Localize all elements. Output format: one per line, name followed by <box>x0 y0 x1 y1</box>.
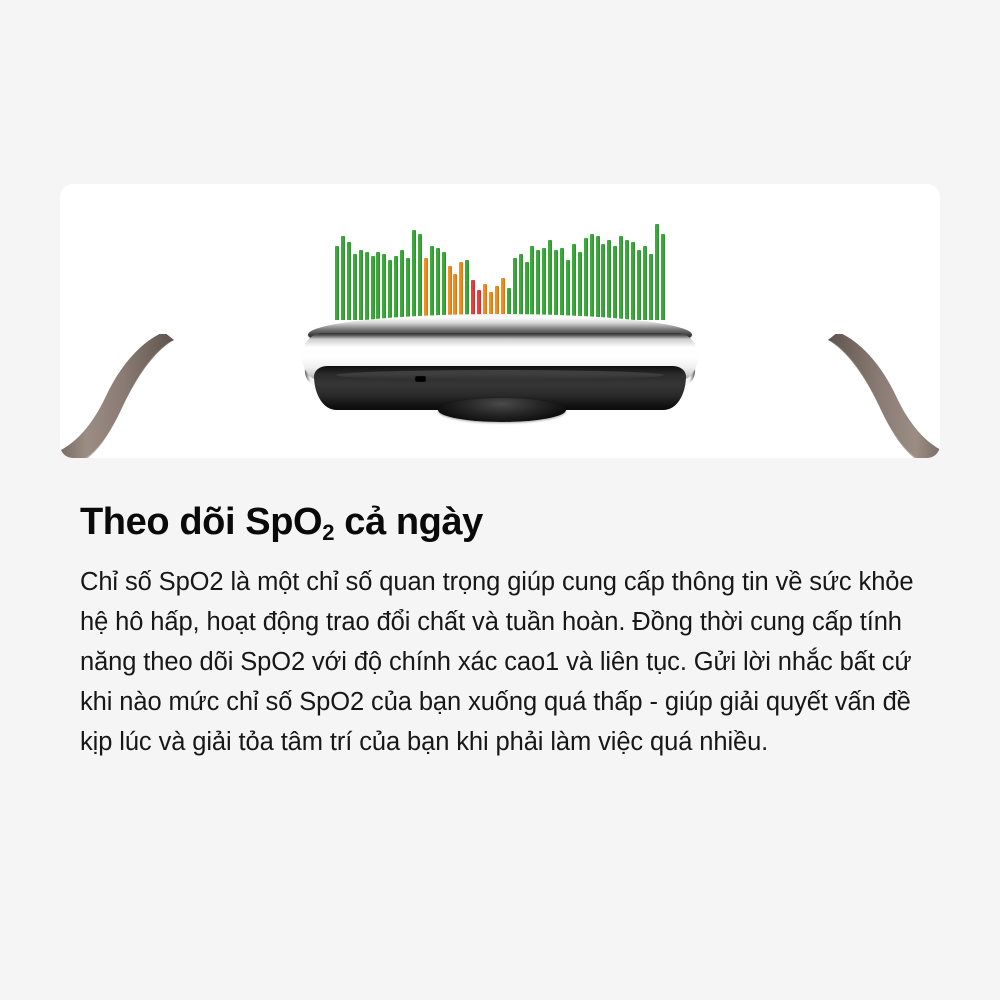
chart-bar <box>607 240 611 320</box>
chart-bar <box>619 236 623 320</box>
chart-bar <box>590 234 594 320</box>
chart-bar <box>530 246 534 320</box>
watch-case <box>300 314 700 424</box>
chart-bar <box>400 250 404 320</box>
chart-bar <box>453 274 457 320</box>
chart-bar <box>382 254 386 320</box>
chart-bar <box>465 260 469 320</box>
feature-copy-block: Theo dõi SpO2 cả ngày Chỉ số SpO2 là một… <box>80 500 940 762</box>
chart-bar <box>631 242 635 320</box>
chart-bar <box>412 230 416 320</box>
chart-bar <box>418 234 422 320</box>
chart-bar <box>542 248 546 320</box>
chart-bar <box>625 240 629 320</box>
chart-bar <box>513 258 517 320</box>
chart-bar <box>560 248 564 320</box>
chart-bar <box>661 234 665 320</box>
chart-bar <box>371 256 375 320</box>
chart-bar <box>495 286 499 320</box>
chart-bar <box>489 292 493 320</box>
chart-bar <box>406 258 410 320</box>
chart-bar <box>335 246 339 320</box>
page-title-subscript: 2 <box>322 520 334 545</box>
chart-bar <box>525 262 529 320</box>
watch-case-midband <box>302 333 698 381</box>
chart-bar <box>359 250 363 320</box>
chart-bar <box>572 244 576 320</box>
page-title: Theo dõi SpO2 cả ngày <box>80 500 940 545</box>
chart-bar <box>601 244 605 320</box>
chart-bar <box>424 258 428 320</box>
chart-bar <box>459 262 463 320</box>
chart-bar <box>365 252 369 320</box>
chart-bar <box>353 254 357 320</box>
chart-bar <box>554 250 558 320</box>
chart-bar <box>483 284 487 320</box>
chart-bar <box>442 252 446 320</box>
chart-bar <box>376 252 380 320</box>
chart-bar <box>471 280 475 320</box>
chart-bar <box>566 260 570 320</box>
chart-bar <box>388 260 392 320</box>
page-title-prefix: Theo dõi SpO <box>80 501 322 543</box>
watch-caseback <box>314 366 686 410</box>
chart-bar <box>448 266 452 320</box>
chart-bar <box>436 248 440 320</box>
page-title-suffix: cả ngày <box>334 501 483 543</box>
chart-bar <box>519 254 523 320</box>
feature-description: Chỉ số SpO2 là một chỉ số quan trọng giú… <box>80 562 940 762</box>
chart-bar <box>613 246 617 320</box>
chart-bar <box>536 250 540 320</box>
watch-lug-right <box>668 332 698 388</box>
chart-bar <box>643 246 647 320</box>
chart-bar <box>341 236 345 320</box>
chart-bar <box>501 278 505 320</box>
watch-lug-left <box>302 332 332 388</box>
chart-bar <box>430 246 434 320</box>
chart-bar <box>584 238 588 320</box>
spo2-bar-chart <box>335 220 665 320</box>
chart-bar <box>649 254 653 320</box>
hero-image-card <box>60 184 940 458</box>
chart-bar <box>655 224 659 320</box>
chart-bar <box>507 288 511 320</box>
chart-bar <box>477 290 481 320</box>
watch-strap-right <box>820 334 940 458</box>
chart-bar <box>548 240 552 320</box>
microphone-slot-icon <box>415 376 426 382</box>
chart-bar <box>394 256 398 320</box>
chart-bar <box>637 250 641 320</box>
chart-bar <box>596 236 600 320</box>
watch-strap-left <box>60 334 182 458</box>
chart-bar <box>578 252 582 320</box>
chart-bar <box>347 242 351 320</box>
spo2-sensor-bump <box>438 398 566 422</box>
